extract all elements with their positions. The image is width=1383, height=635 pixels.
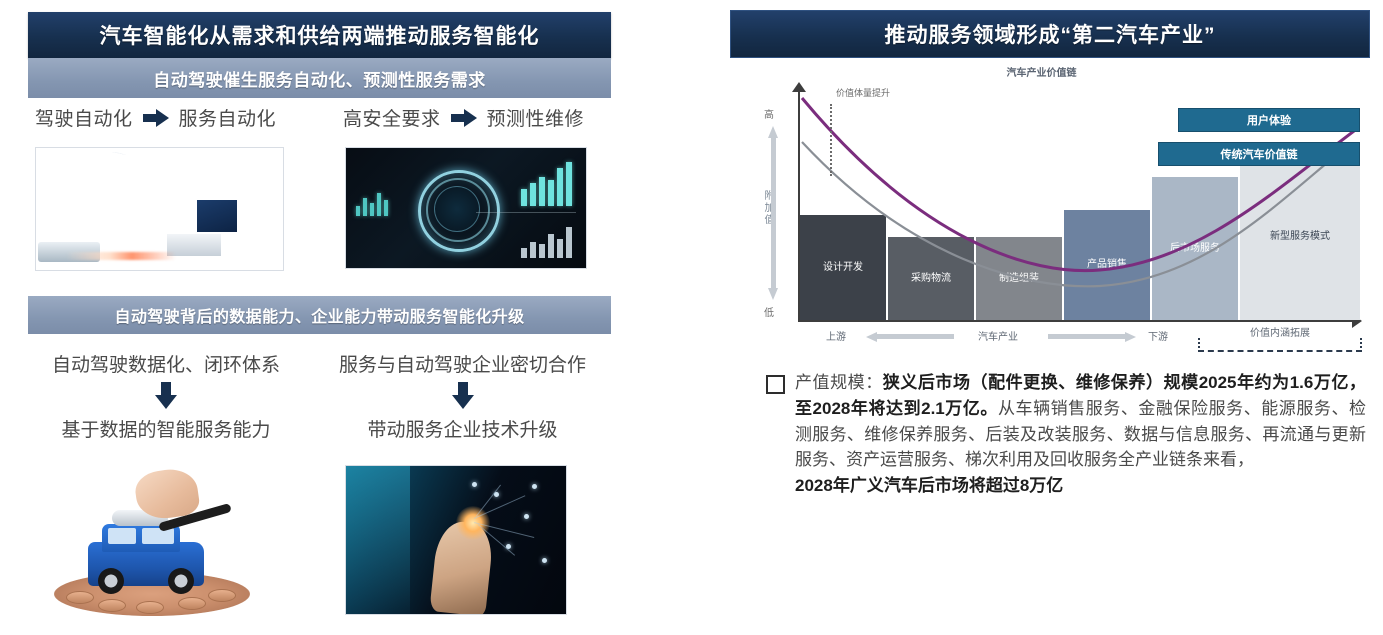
flow-column-2: 服务与自动驾驶企业密切合作 带动服务企业技术升级 xyxy=(325,350,600,442)
hud-ring-inner xyxy=(434,186,480,232)
right-title-banner: 推动服务领域形成“第二汽车产业” xyxy=(730,10,1370,58)
network-node xyxy=(532,484,537,489)
flow-1-top-text: 自动驾驶数据化、闭环体系 xyxy=(36,350,296,377)
arrow-row-2-to: 预测性维修 xyxy=(487,104,585,131)
car-wheel xyxy=(98,568,124,594)
arrow-row-2: 高安全要求 预测性维修 xyxy=(343,104,584,131)
x-axis-line xyxy=(798,320,1354,322)
coin xyxy=(178,597,206,610)
right-title-text: 推动服务领域形成“第二汽车产业” xyxy=(885,19,1216,49)
analytics-dashboard-image xyxy=(345,147,587,269)
down-arrow-icon xyxy=(452,382,474,410)
downstream-arrow-icon xyxy=(1048,332,1136,340)
legend-user-experience-label: 用户体验 xyxy=(1247,112,1291,128)
dashboard-divider xyxy=(476,212,576,213)
left-subtitle-banner: 自动驾驶催生服务自动化、预测性服务需求 xyxy=(28,58,611,98)
chart-caption: 汽车产业价值链 xyxy=(700,64,1383,79)
arrow-row-1-from: 驾驶自动化 xyxy=(35,104,133,131)
hand-digital-network-image xyxy=(345,465,567,615)
light-streak xyxy=(66,252,176,260)
flow-1-bottom-text: 基于数据的智能服务能力 xyxy=(36,415,296,442)
arrow-row-1-to: 服务自动化 xyxy=(179,104,277,131)
left-section2-text: 自动驾驶背后的数据能力、企业能力带动服务智能化升级 xyxy=(114,303,524,327)
dashboard-bars-top xyxy=(521,162,572,206)
value-chain-chart: 高 低 附加值 设计开发 采购物流 制造组装 产品销售 后市场服务 新型 xyxy=(730,82,1370,347)
legend-user-experience[interactable]: 用户体验 xyxy=(1178,108,1360,132)
plot-area: 设计开发 采购物流 制造组装 产品销售 后市场服务 新型服务模式 xyxy=(800,90,1360,320)
dashboard-bars-left xyxy=(356,190,388,216)
value-growth-annotation: 价值体量提升 xyxy=(836,86,890,99)
city-skyline-glow xyxy=(346,466,410,614)
body-lead: 产值规模： xyxy=(795,373,883,392)
car-fuel-coins-image xyxy=(40,462,265,622)
y-tick-high: 高 xyxy=(764,106,774,121)
flow-column-1: 自动驾驶数据化、闭环体系 基于数据的智能服务能力 xyxy=(36,350,296,442)
body-paragraph: 产值规模：狭义后市场（配件更换、维修保养）规模2025年约为1.6万亿，至202… xyxy=(795,370,1366,499)
robotic-arm-smart-factory-image xyxy=(35,147,284,271)
y-tick-low: 低 xyxy=(764,304,774,319)
body-bold-2: 2028年广义汽车后市场将超过8万亿 xyxy=(795,476,1063,495)
coin xyxy=(136,601,164,614)
left-title-text: 汽车智能化从需求和供给两端推动服务智能化 xyxy=(100,20,540,50)
left-panel: 汽车智能化从需求和供给两端推动服务智能化 自动驾驶催生服务自动化、预测性服务需求… xyxy=(0,0,700,635)
value-growth-dashed-line xyxy=(830,104,832,176)
robot-arm-shape xyxy=(36,147,158,256)
arrow-row-1: 驾驶自动化 服务自动化 xyxy=(35,104,276,131)
flow-2-bottom-text: 带动服务企业技术升级 xyxy=(325,415,600,442)
car-wheel xyxy=(168,568,194,594)
car-window xyxy=(142,528,174,544)
left-title-banner: 汽车智能化从需求和供给两端推动服务智能化 xyxy=(28,12,611,58)
network-node xyxy=(524,514,529,519)
value-extension-scope-brace xyxy=(1198,338,1362,352)
coin xyxy=(208,589,236,602)
car-window xyxy=(108,528,136,544)
left-section2-banner: 自动驾驶背后的数据能力、企业能力带动服务智能化升级 xyxy=(28,296,611,334)
right-arrow-icon xyxy=(143,109,169,127)
x-scope-label: 价值内涵拓展 xyxy=(1250,324,1310,339)
x-zone-downstream: 下游 xyxy=(1148,328,1168,343)
upstream-arrow-icon xyxy=(866,332,954,340)
body-text-block: 产值规模：狭义后市场（配件更换、维修保养）规模2025年约为1.6万亿，至202… xyxy=(766,370,1366,499)
left-subtitle-text: 自动驾驶催生服务自动化、预测性服务需求 xyxy=(153,66,486,91)
cargo-box-dark xyxy=(197,200,237,232)
checkbox-marker-icon xyxy=(766,375,785,394)
down-arrow-icon xyxy=(155,382,177,410)
flow-2-top-text: 服务与自动驾驶企业密切合作 xyxy=(325,350,600,377)
coin xyxy=(66,591,94,604)
dashboard-bars-bottom xyxy=(521,224,572,258)
coin xyxy=(98,599,126,612)
legend-traditional-chain[interactable]: 传统汽车价值链 xyxy=(1158,142,1360,166)
x-zone-upstream: 上游 xyxy=(826,328,846,343)
network-node xyxy=(542,558,547,563)
network-node xyxy=(472,482,477,487)
x-zone-auto-industry: 汽车产业 xyxy=(978,328,1018,343)
y-axis-direction-arrow xyxy=(768,124,778,302)
legend-traditional-chain-label: 传统汽车价值链 xyxy=(1221,146,1298,162)
right-panel: 推动服务领域形成“第二汽车产业” 汽车产业价值链 高 低 附加值 设计开发 采购… xyxy=(700,0,1383,635)
right-arrow-icon xyxy=(451,109,477,127)
arrow-row-2-from: 高安全要求 xyxy=(343,104,441,131)
